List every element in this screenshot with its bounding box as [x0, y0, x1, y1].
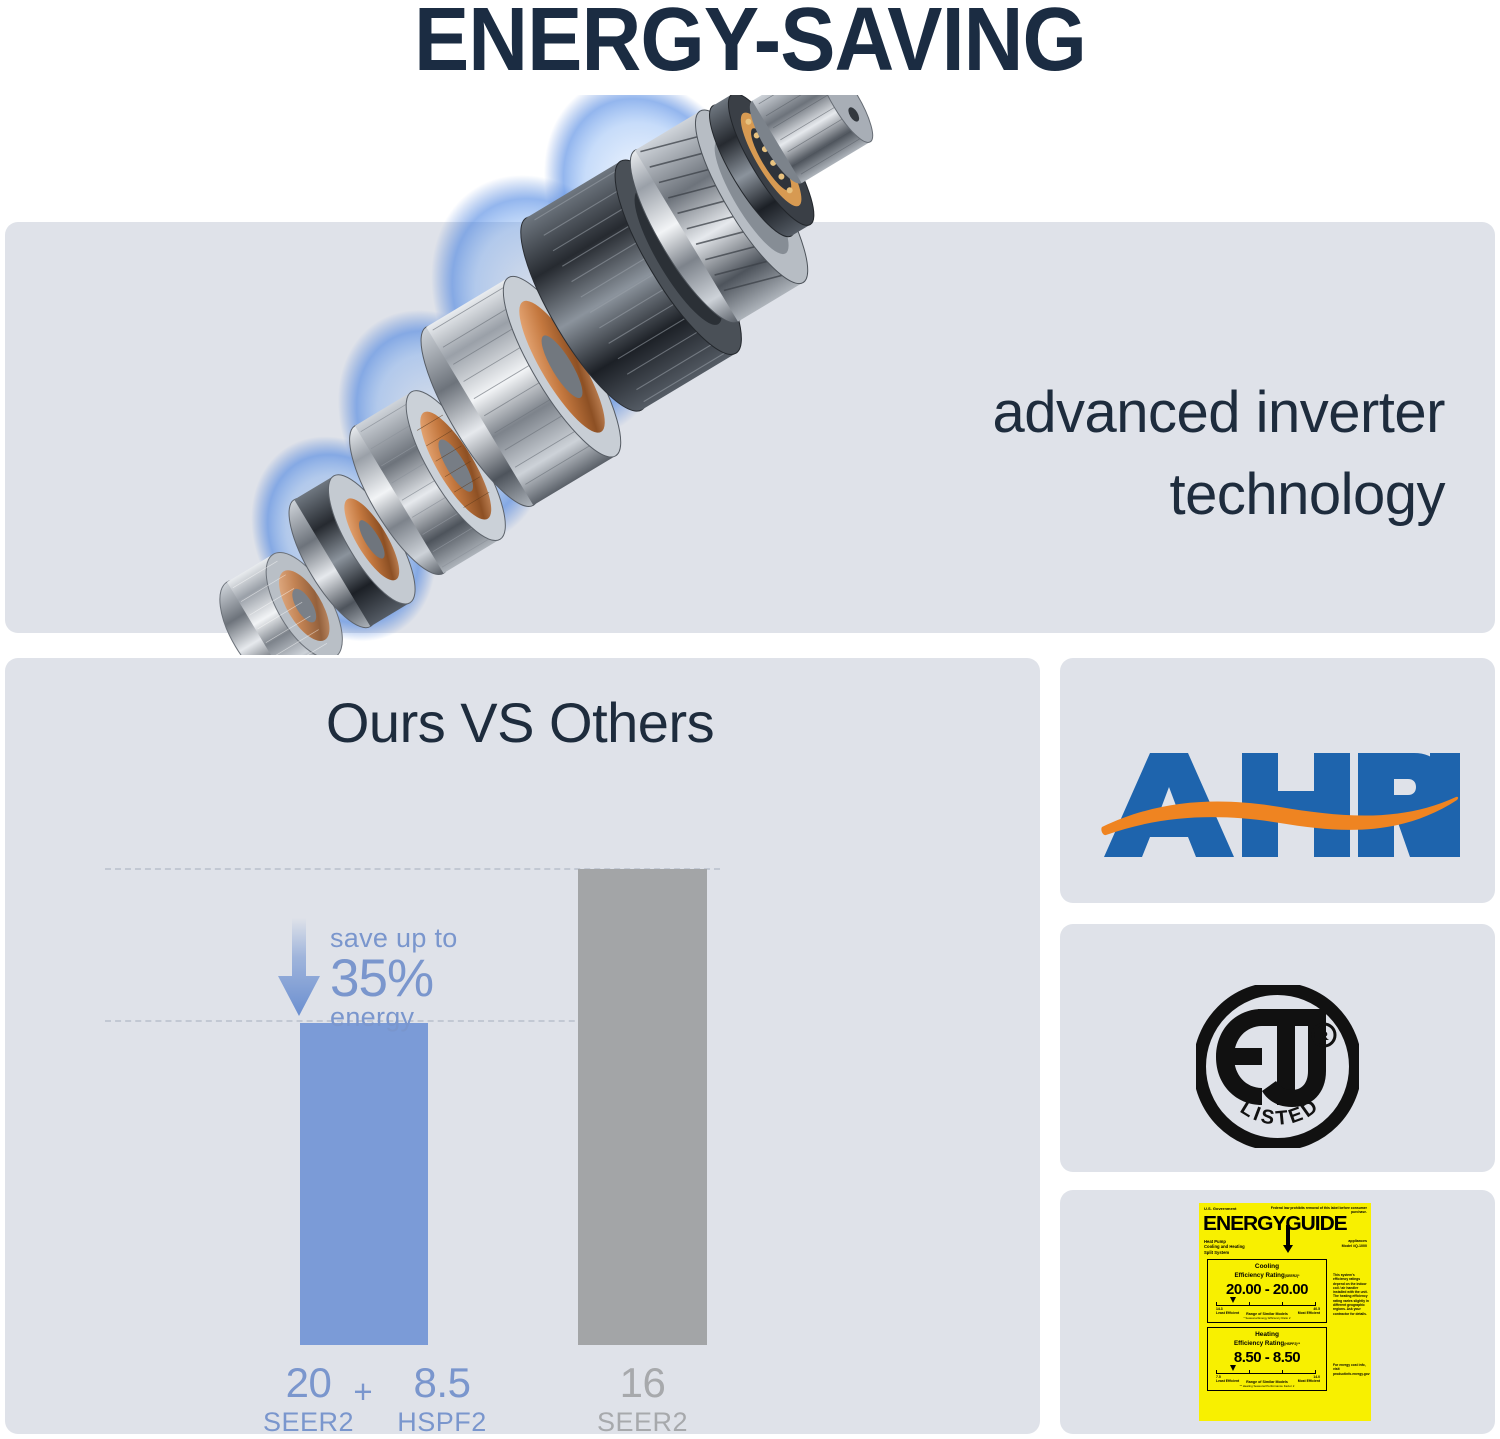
down-arrow-icon: [276, 918, 322, 1018]
etl-listed-logo-icon: R LISTED: [1196, 985, 1359, 1148]
bar-value-ours-hspf: 8.5: [372, 1360, 512, 1406]
energyguide-arrow-head: [1283, 1245, 1293, 1253]
energyguide-heating-footer: Range of Similar Models ** Heating Seaso…: [1208, 1380, 1326, 1389]
bar-unit-others: SEER2: [580, 1406, 705, 1438]
energyguide-model-number: Model #Q-1000: [1297, 1244, 1367, 1249]
savings-callout: save up to 35% energy: [330, 923, 590, 1032]
energyguide-cooling-footnote: * Seasonal Energy Efficiency Ratio 2: [1243, 1316, 1290, 1320]
energyguide-cooling-footer-text: Range of Similar Models: [1246, 1312, 1288, 1316]
savings-callout-value: 35%: [330, 952, 590, 1006]
infographic-stage: ENERGY-SAVING: [0, 0, 1500, 1439]
energyguide-arrow-stem: [1286, 1225, 1290, 1247]
savings-callout-bottom: energy: [330, 1003, 590, 1032]
energyguide-product-lines: Heat Pump Cooling and Heating Split Syst…: [1204, 1239, 1245, 1255]
hero-caption-line2: technology: [825, 454, 1445, 536]
energyguide-heating-scale: [1216, 1373, 1316, 1374]
energyguide-cooling-pointer: [1230, 1297, 1236, 1303]
chart-title: Ours VS Others: [0, 690, 1040, 756]
bar-unit-ours-hspf: HSPF2: [372, 1406, 512, 1438]
energyguide-model: appliances Model #Q-1000: [1297, 1239, 1367, 1249]
energyguide-heating-box: Heating Efficiency Rating(HSPF2)** 8.50 …: [1207, 1327, 1327, 1391]
hero-caption: advanced inverter technology: [825, 372, 1445, 536]
bar-others: [578, 869, 707, 1345]
hero-caption-line1: advanced inverter: [825, 372, 1445, 454]
energyguide-heating-metric: (HSPF2)**: [1284, 1342, 1300, 1346]
energyguide-heating-footer-text: Range of Similar Models: [1246, 1380, 1288, 1384]
energyguide-heating-sub-text: Efficiency Rating: [1234, 1340, 1284, 1347]
page-title: ENERGY-SAVING: [60, 0, 1440, 86]
energyguide-heating-pointer: [1230, 1365, 1236, 1371]
bar-label-ours-hspf: 8.5 HSPF2: [372, 1360, 512, 1438]
bar-value-others: 16: [580, 1360, 705, 1406]
energyguide-heating-range: 8.50 - 8.50: [1208, 1349, 1326, 1366]
energyguide-heating-footnote: ** Heating Seasonal Performance Factor 2: [1240, 1384, 1295, 1388]
energyguide-heating-heading: Heating: [1208, 1331, 1326, 1338]
energyguide-heating-subheading: Efficiency Rating(HSPF2)**: [1208, 1340, 1326, 1347]
bar-label-others: 16 SEER2: [580, 1360, 705, 1438]
ahri-logo-icon: [1100, 745, 1460, 865]
energyguide-cooling-metric: (SEER2)*: [1285, 1274, 1300, 1278]
svg-text:R: R: [1319, 1028, 1329, 1043]
energyguide-title: ENERGYGUIDE: [1203, 1213, 1347, 1236]
energyguide-cooling-footer: Range of Similar Models * Seasonal Energ…: [1208, 1312, 1326, 1321]
energyguide-note: This system's efficiency ratings depend …: [1333, 1273, 1369, 1316]
energyguide-url-block: For energy cost info, visit productinfo.…: [1333, 1363, 1369, 1376]
inverter-motor-illustration: [30, 95, 950, 655]
energyguide-cooling-scale: [1216, 1305, 1316, 1306]
energyguide-url: productinfo.energy.gov: [1333, 1372, 1369, 1376]
energyguide-cooling-box: Cooling Efficiency Rating(SEER2)* 20.00 …: [1207, 1259, 1327, 1323]
energyguide-url-intro: For energy cost info, visit: [1333, 1363, 1366, 1371]
comparison-chart-panel: [5, 658, 1040, 1434]
energyguide-cooling-range: 20.00 - 20.00: [1208, 1281, 1326, 1298]
energyguide-label: U.S. Government Federal law prohibits re…: [1199, 1203, 1371, 1421]
energyguide-gov: U.S. Government: [1204, 1206, 1236, 1211]
energyguide-cooling-subheading: Efficiency Rating(SEER2)*: [1208, 1272, 1326, 1279]
energyguide-cooling-sub-text: Efficiency Rating: [1235, 1272, 1285, 1279]
energyguide-cooling-heading: Cooling: [1208, 1263, 1326, 1270]
bar-ours: [300, 1023, 428, 1345]
